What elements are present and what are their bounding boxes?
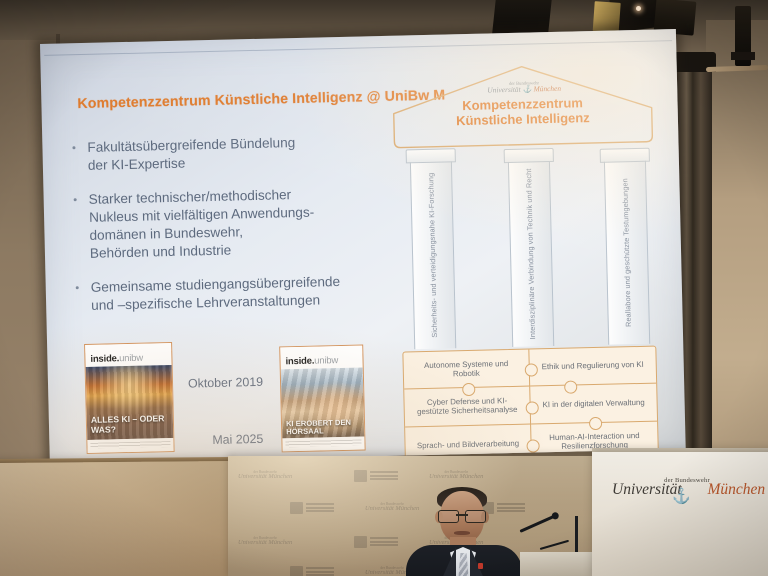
pillar-label: Reallabore und geschützte Testumgebungen [621, 178, 634, 327]
backdrop-partner-logo-icon [290, 502, 303, 514]
right-wall [706, 20, 768, 470]
magazine-masthead-bar [85, 343, 171, 353]
magazine-logo-bold: inside. [285, 356, 314, 368]
backdrop-logo-sub: der Bundeswehr [429, 470, 483, 474]
magazine-cover: inside.unibw ALLES KI – ODER WAS? [84, 342, 175, 454]
backdrop-logo-main1: Universität [365, 505, 394, 512]
pillar: Reallabore und geschützte Testumgebungen [604, 160, 650, 345]
puzzle-grid: Autonome Systeme und Robotik Ethik und R… [402, 346, 659, 464]
pediment: der Bundeswehr Universität ⚓ München Kom… [389, 62, 657, 152]
backdrop-logo-sub: der Bundeswehr [238, 536, 292, 540]
pillar-label-wrap: Reallabore und geschützte Testumgebungen [605, 160, 649, 345]
pillar: Interdisziplinäre Verbindung von Technik… [508, 160, 554, 347]
magazine-masthead-bar [280, 345, 362, 355]
pillar-label: Sicherheits- und verteidigungsnahe KI-Fo… [427, 172, 440, 337]
backdrop-logo-main1: Universität [429, 473, 458, 480]
lapel-pin-icon [478, 563, 483, 569]
temple-diagram: der Bundeswehr Universität ⚓ München Kom… [382, 55, 676, 462]
speaker-box-icon [735, 6, 751, 66]
pillar-label-wrap: Sicherheits- und verteidigungsnahe KI-Fo… [411, 160, 455, 349]
backdrop-logo-main2: München [268, 473, 292, 480]
backdrop-partner-logo-icon [354, 536, 367, 548]
backdrop-logo-sub: der Bundeswehr [238, 470, 292, 474]
pillar-label-wrap: Interdisziplinäre Verbindung von Technik… [509, 160, 553, 347]
speaker-mouth [454, 531, 470, 535]
magazine-footer [282, 436, 364, 451]
puzzle-knob-icon [524, 363, 537, 376]
list-item: Fakultätsübergreifende Bündelung der KI-… [65, 132, 396, 176]
magazine-logo: inside.unibw [285, 355, 338, 367]
list-item: Starker technischer/methodischer Nukleus… [66, 184, 398, 264]
left-banner [0, 461, 233, 576]
backdrop-uni-logo: der Bundeswehr Universität München [238, 536, 292, 548]
pillar-label: Interdisziplinäre Verbindung von Technik… [524, 168, 537, 339]
pediment-title: Kompetenzzentrum Künstliche Intelligenz [403, 95, 642, 130]
magazine-logo-bold: inside. [90, 353, 119, 365]
magazine-footer [87, 438, 173, 453]
magazine-caption: Mai 2025 [212, 432, 263, 447]
magazine-caption: Oktober 2019 [188, 375, 263, 391]
screen-frame: Kompetenzzentrum Künstliche Intelligenz … [40, 29, 686, 464]
list-item: Gemeinsame studiengangsübergreifende und… [69, 271, 400, 315]
magazine-headline: KI EROBERT DEN HÖRSAAL [286, 418, 360, 436]
logo-main-2: München [533, 84, 561, 94]
logo-main-1: Universität [487, 85, 520, 95]
magazine-logo-light: unibw [119, 353, 143, 365]
backdrop-logo-row: der Bundeswehr Universität München [290, 566, 419, 576]
right-banner [592, 452, 768, 576]
slide-canvas: Kompetenzzentrum Künstliche Intelligenz … [45, 43, 680, 464]
screenshot-root: Kompetenzzentrum Künstliche Intelligenz … [0, 0, 768, 576]
puzzle-knob-icon [526, 439, 539, 452]
magazine-cover: inside.unibw KI EROBERT DEN HÖRSAAL [279, 344, 365, 452]
speaker-person [404, 487, 524, 576]
backdrop-uni-logo: der Bundeswehr Universität München [238, 470, 292, 482]
university-seal-icon: ⚓ [672, 487, 688, 507]
puzzle-piece: Ethik und Regulierung von KI [529, 347, 656, 387]
logo-seal-icon: ⚓ [522, 84, 531, 93]
magazine-logo: inside.unibw [90, 353, 143, 365]
slide-bullet-list: Fakultätsübergreifende Bündelung der KI-… [65, 132, 399, 331]
puzzle-knob-icon [525, 401, 538, 414]
backdrop-logo-main1: Universität [365, 569, 394, 576]
pillar: Sicherheits- und verteidigungsnahe KI-Fo… [410, 160, 456, 349]
projection-screen: Kompetenzzentrum Künstliche Intelligenz … [40, 29, 686, 464]
backdrop-uni-logo: der Bundeswehr Universität München [429, 470, 483, 482]
backdrop-logo-main1: Universität [238, 539, 267, 546]
backdrop-partner-logo-icon [354, 470, 367, 482]
right-logo-main2: München [708, 481, 766, 498]
backdrop-logo-main2: München [268, 539, 292, 546]
backdrop-logo-main1: Universität [238, 473, 267, 480]
light-indicator-icon [636, 6, 641, 11]
backdrop-partner-logo-icon [290, 566, 303, 576]
magazine-headline: ALLES KI – ODER WAS? [91, 415, 169, 435]
backdrop-logo-row: der Bundeswehr Universität München der B… [238, 470, 483, 482]
magazine-logo-light: unibw [314, 355, 338, 367]
backdrop-logo-main2: München [460, 473, 484, 480]
glasses-bridge [456, 514, 468, 516]
